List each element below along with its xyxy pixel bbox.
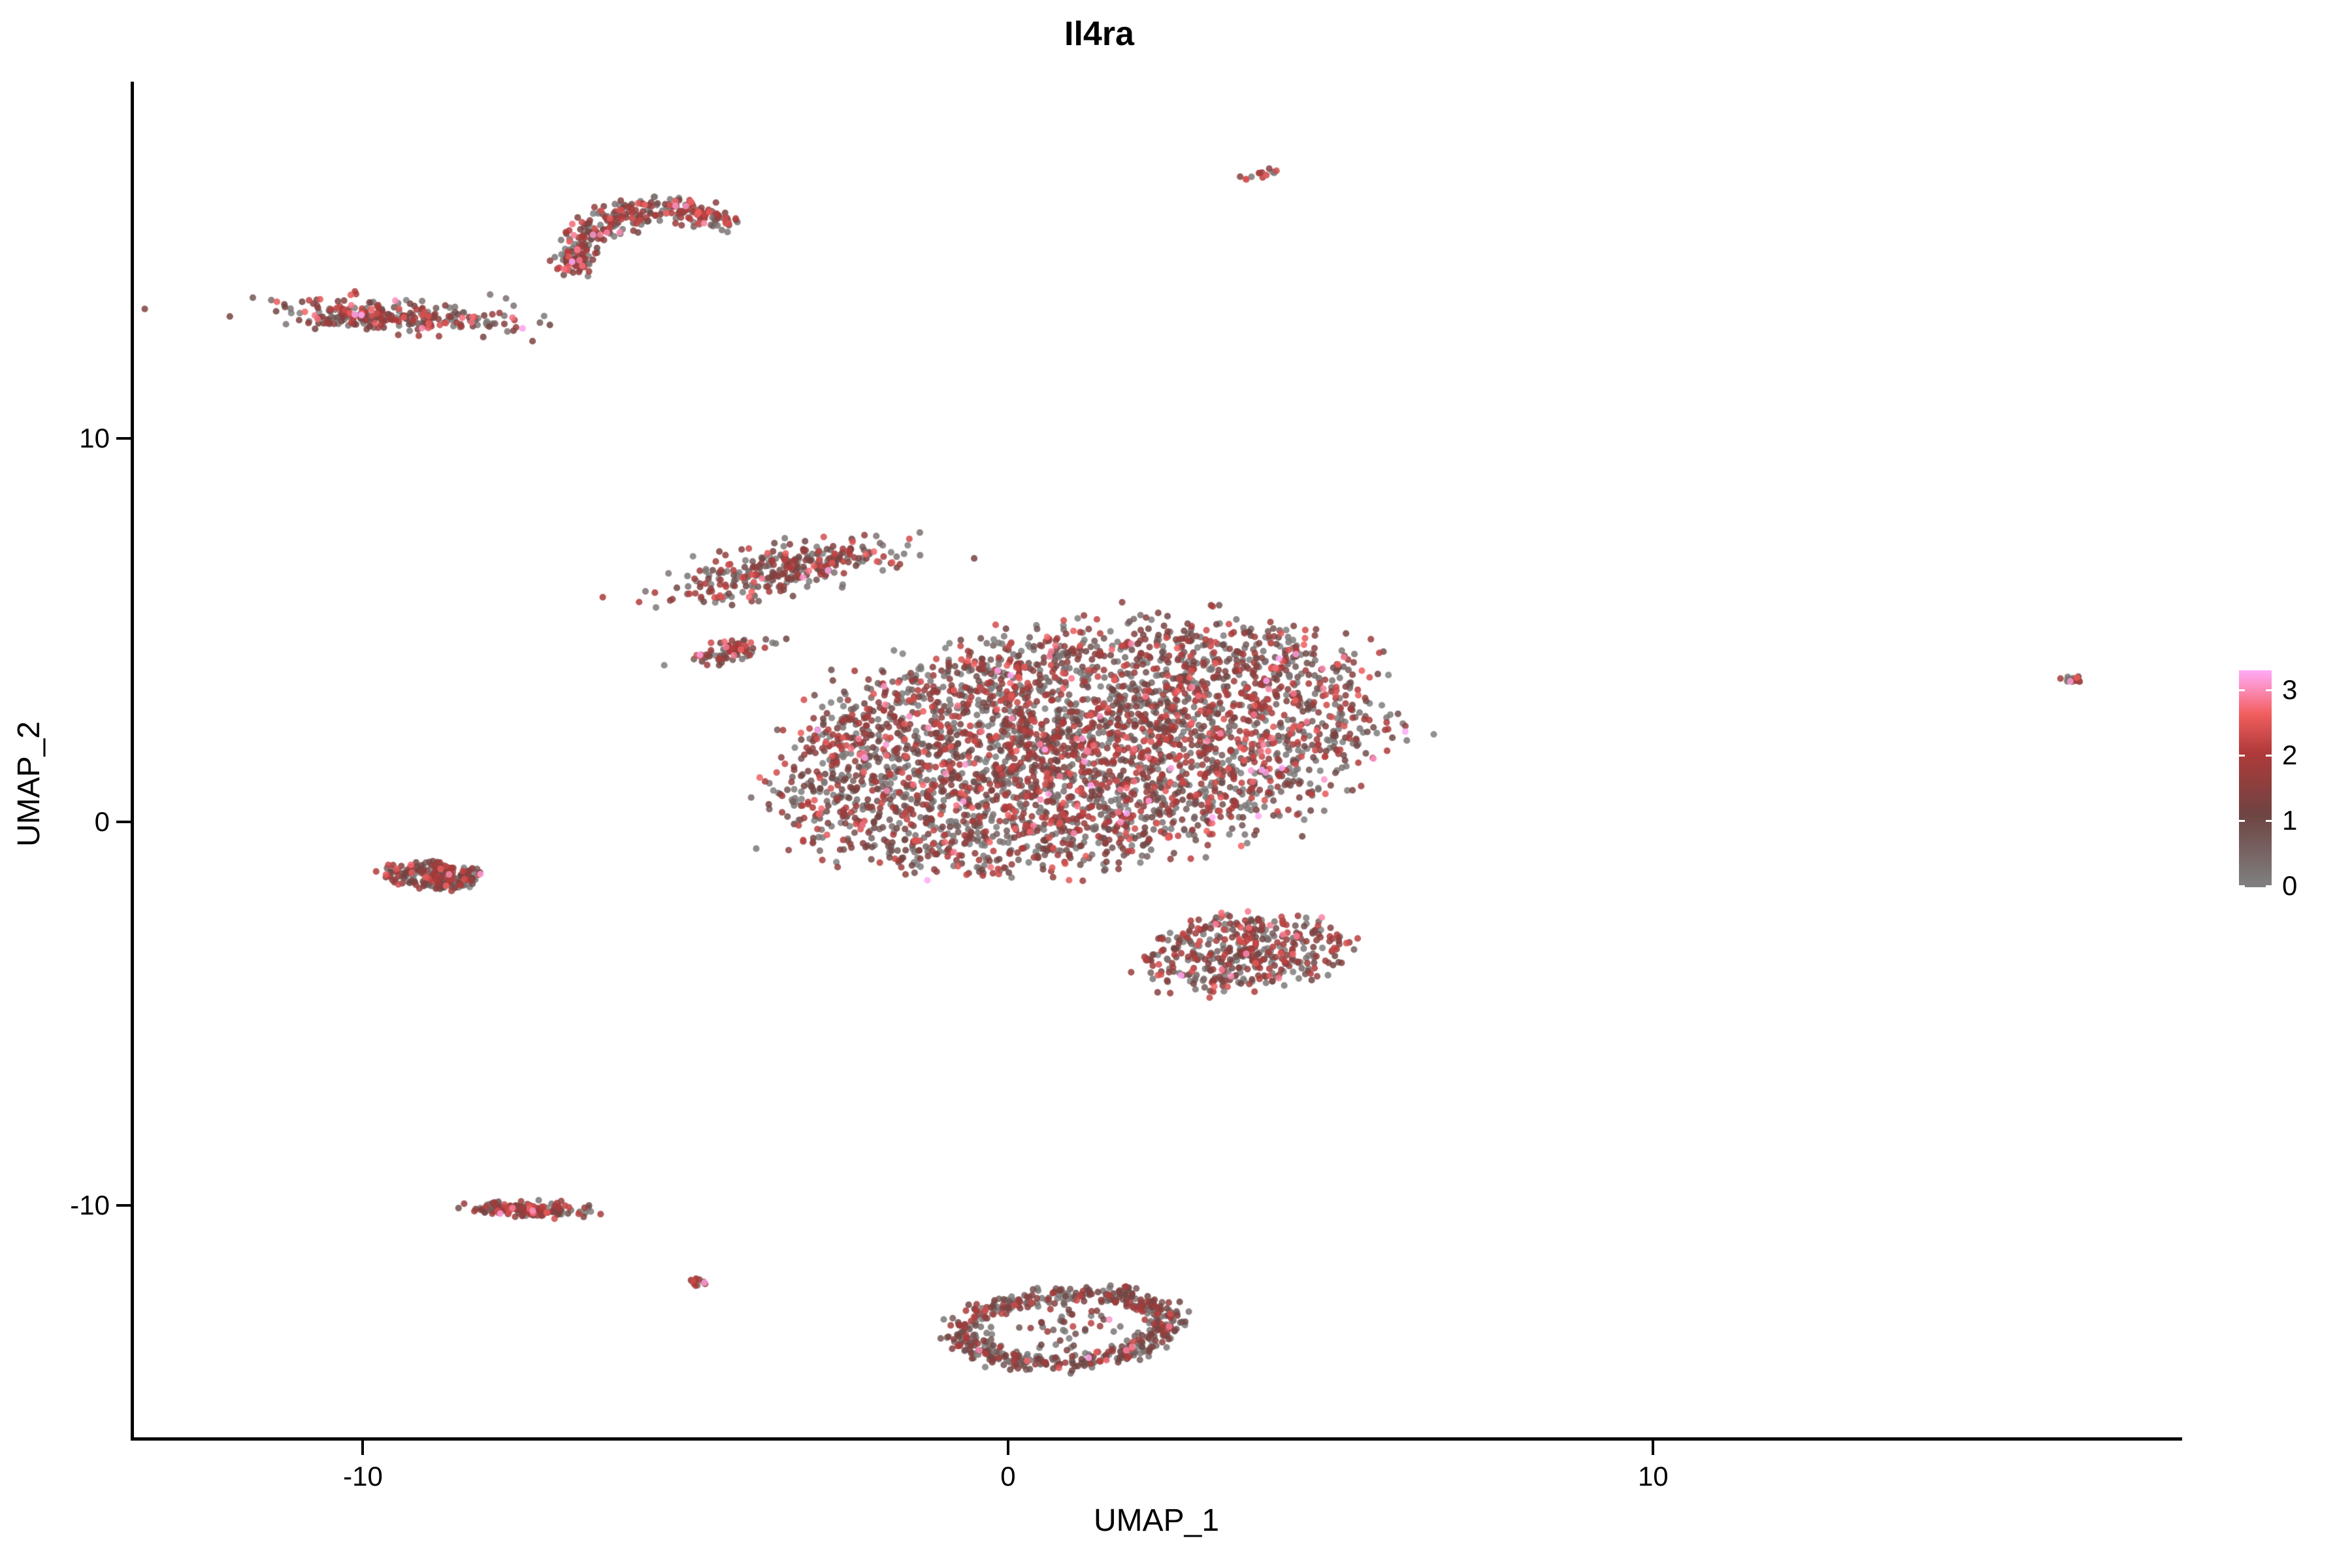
scatter-canvas	[131, 82, 2182, 1439]
legend-tick-label: 3	[2282, 674, 2297, 706]
legend-tick-mark	[2239, 885, 2272, 887]
x-axis-line	[131, 1437, 2182, 1441]
legend-tick-label: 0	[2282, 870, 2297, 902]
x-tick-label: -10	[343, 1461, 383, 1492]
x-axis-title: UMAP_1	[131, 1503, 2182, 1539]
x-tick-mark	[1007, 1441, 1009, 1455]
legend-tick-mark	[2239, 755, 2272, 757]
y-tick-label: -10	[70, 1190, 110, 1221]
y-tick-mark	[116, 821, 131, 823]
plot-panel	[131, 82, 2182, 1439]
legend-tick-mark	[2239, 689, 2272, 691]
legend-tick-gap	[2245, 885, 2266, 887]
x-tick-mark	[1652, 1441, 1654, 1455]
legend-tick-gap	[2245, 689, 2266, 691]
legend-tick-gap	[2245, 820, 2266, 822]
x-tick-label: 10	[1638, 1461, 1669, 1492]
color-legend: 3210	[2239, 670, 2337, 886]
y-axis-title: UMAP_2	[0, 0, 59, 1568]
page-title: Il4ra	[0, 14, 2198, 54]
x-tick-mark	[361, 1441, 364, 1455]
y-tick-mark	[116, 1204, 131, 1207]
legend-tick-mark	[2239, 820, 2272, 822]
y-tick-label: 0	[95, 806, 110, 838]
feature-plot-page: Il4ra -10010 100-10 UMAP_1 UMAP_2 3210	[0, 0, 2352, 1568]
y-tick-label: 10	[79, 423, 110, 454]
y-axis-line	[131, 82, 134, 1439]
x-tick-label: 0	[1000, 1461, 1015, 1492]
legend-tick-label: 2	[2282, 740, 2297, 771]
legend-tick-label: 1	[2282, 805, 2297, 836]
y-tick-mark	[116, 437, 131, 440]
legend-tick-gap	[2245, 755, 2266, 757]
legend-colorbar	[2239, 670, 2272, 886]
